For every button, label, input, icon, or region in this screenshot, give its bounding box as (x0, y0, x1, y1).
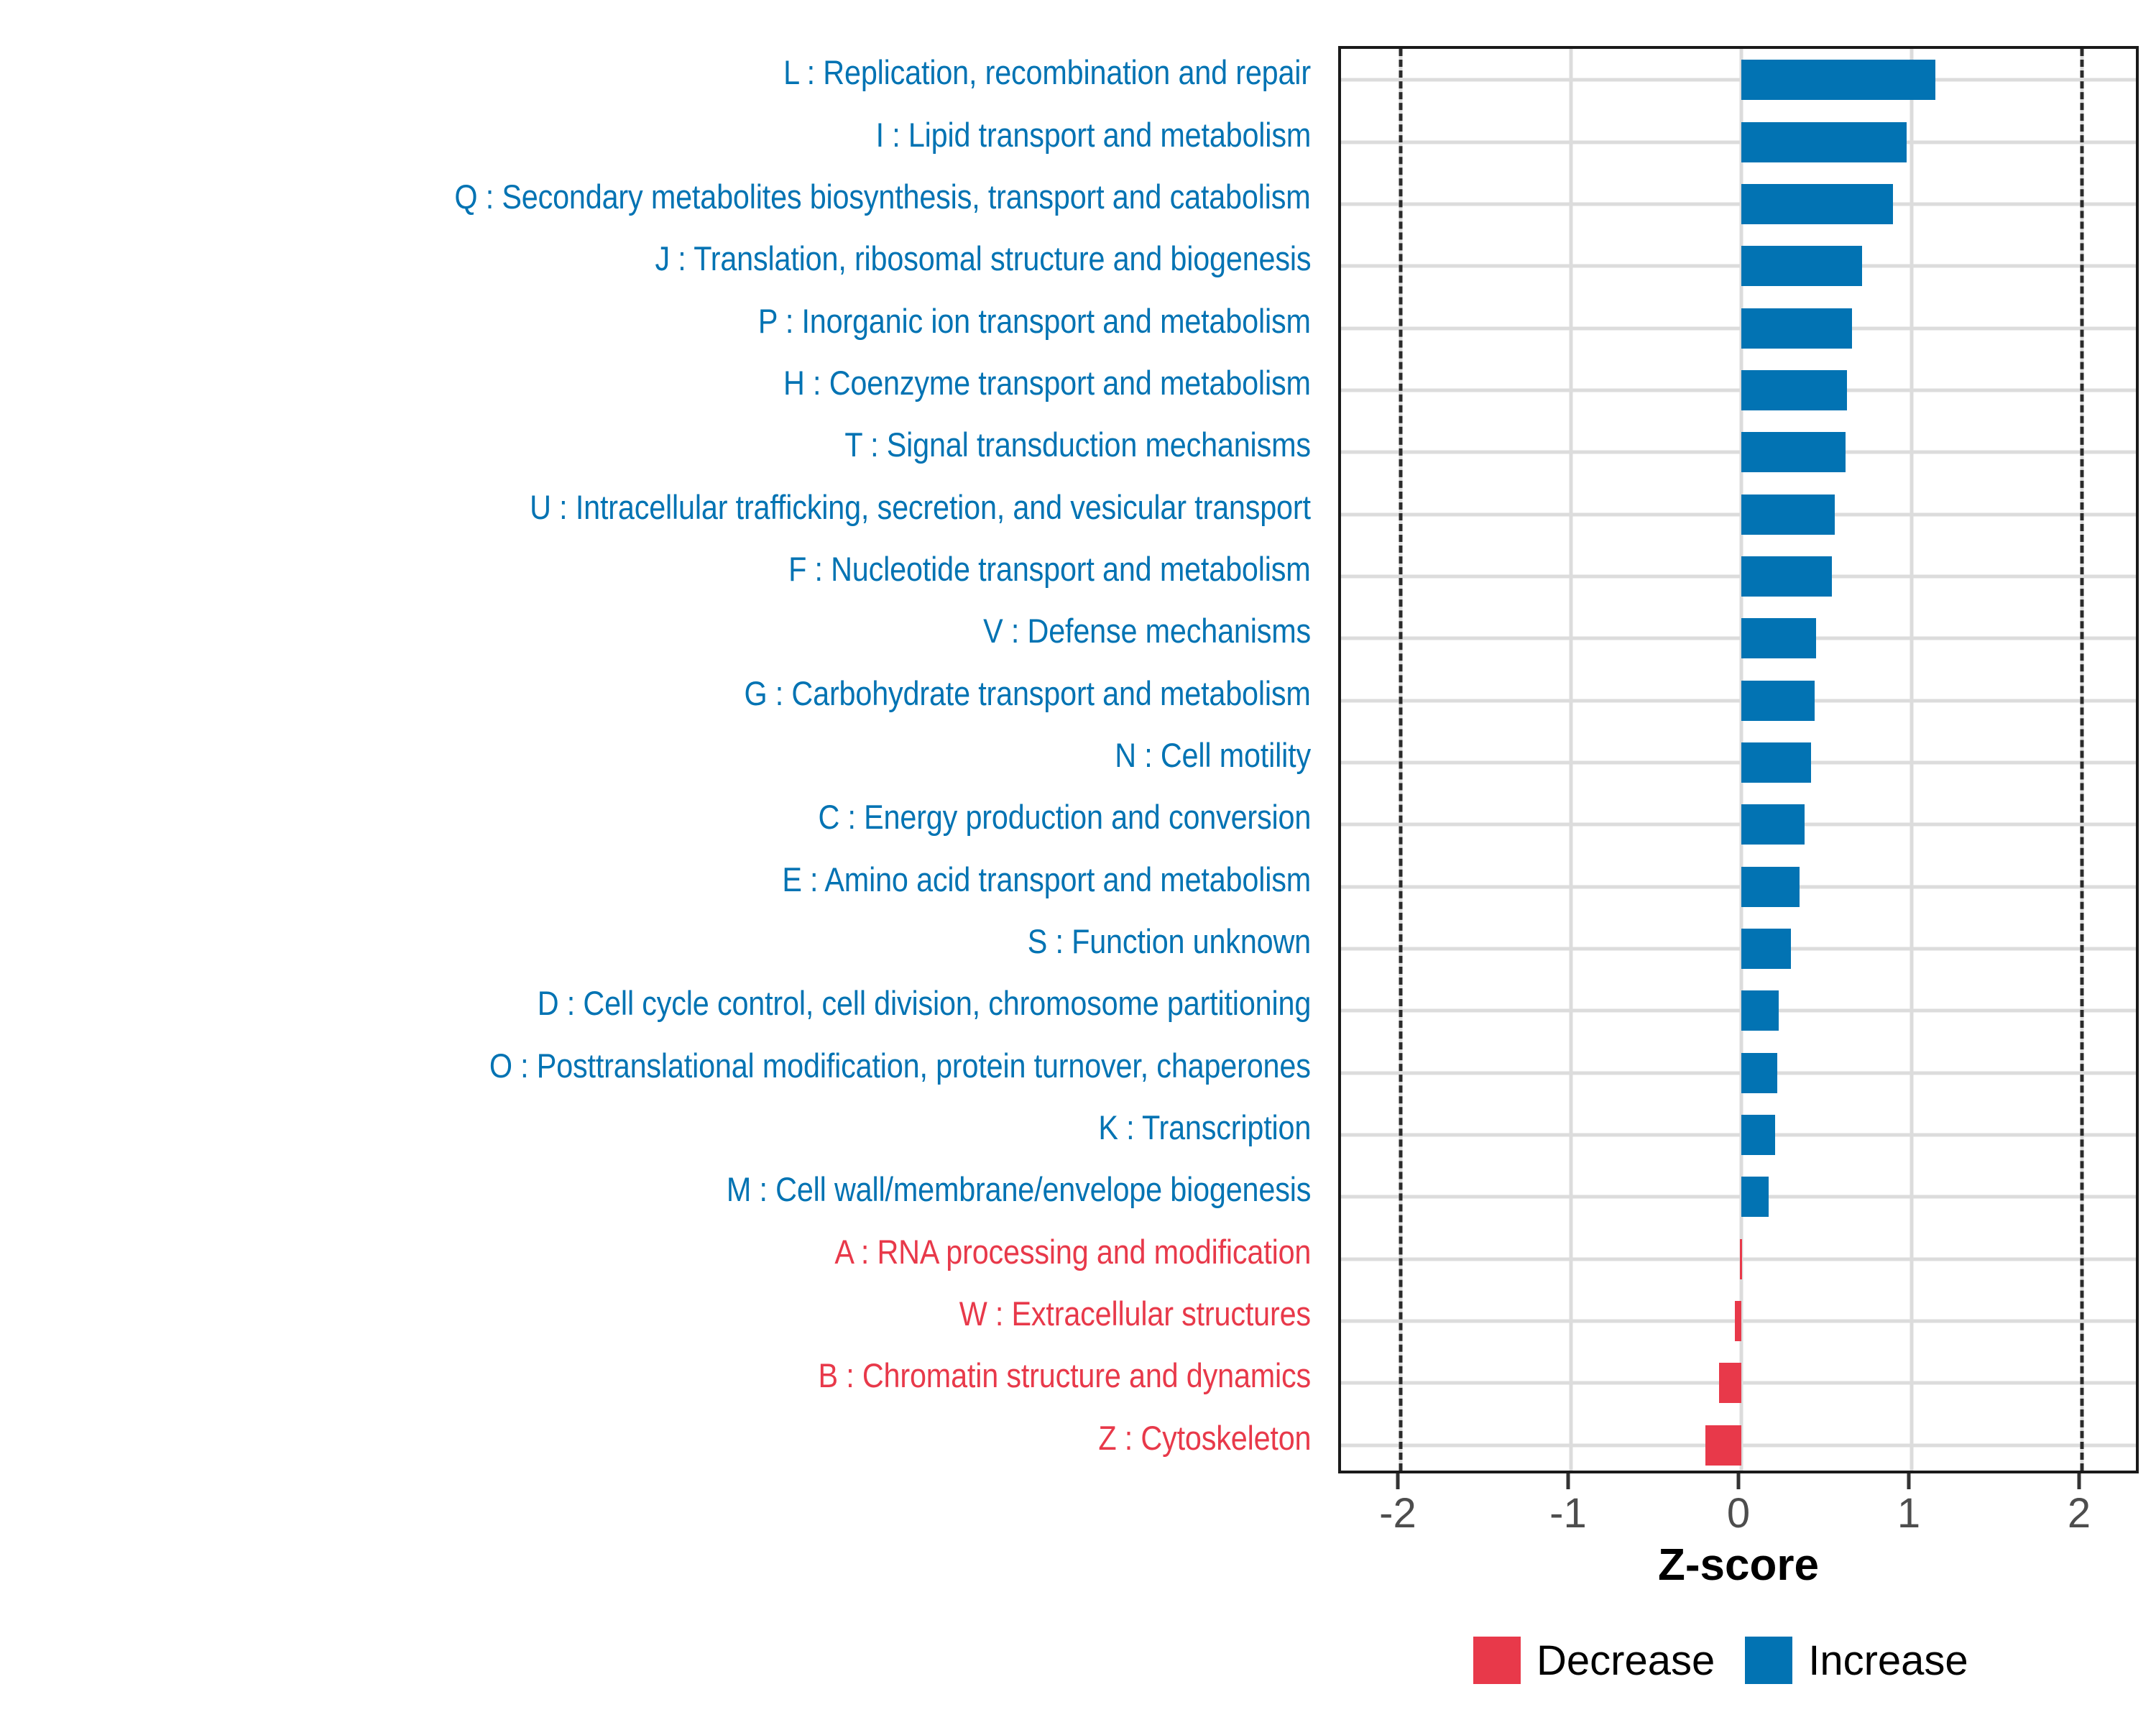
y-axis-label: S : Function unknown (1028, 924, 1311, 958)
y-axis-label: U : Intracellular trafficking, secretion… (530, 490, 1311, 524)
gridline-horizontal (1341, 451, 2136, 454)
y-axis-label: T : Signal transduction mechanisms (845, 428, 1311, 461)
bar-p (1741, 308, 1852, 349)
y-axis-label: J : Translation, ribosomal structure and… (655, 241, 1311, 275)
y-axis-label: Z : Cytoskeleton (1098, 1421, 1311, 1455)
gridline-horizontal (1341, 388, 2136, 392)
y-axis-label: I : Lipid transport and metabolism (875, 118, 1311, 152)
legend-swatch-increase (1745, 1637, 1792, 1684)
tickmark (1907, 1473, 1911, 1489)
y-axis-label: G : Carbohydrate transport and metabolis… (745, 676, 1311, 710)
tick-label: 0 (1727, 1489, 1750, 1537)
chart-figure: L : Replication, recombination and repai… (0, 0, 2156, 1725)
gridline-horizontal (1341, 326, 2136, 330)
gridline-horizontal (1341, 78, 2136, 82)
chart-legend: DecreaseIncrease (1473, 1621, 1968, 1700)
tickmark (1737, 1473, 1741, 1489)
legend-item-decrease[interactable]: Decrease (1473, 1637, 1715, 1685)
gridline-horizontal (1341, 699, 2136, 702)
bar-t (1741, 432, 1846, 472)
bar-k (1741, 1115, 1775, 1155)
gridline-horizontal (1341, 264, 2136, 268)
y-axis-label: B : Chromatin structure and dynamics (818, 1358, 1311, 1392)
bar-q (1741, 184, 1893, 224)
y-axis-label: L : Replication, recombination and repai… (783, 55, 1311, 89)
y-axis-label: K : Transcription (1098, 1110, 1311, 1144)
gridline-horizontal (1341, 823, 2136, 827)
bar-l (1741, 60, 1935, 100)
legend-label: Increase (1808, 1637, 1968, 1685)
tickmark (2078, 1473, 2081, 1489)
gridline-horizontal (1341, 885, 2136, 888)
legend-label: Decrease (1537, 1637, 1715, 1685)
plot-panel (1338, 46, 2139, 1473)
gridline-horizontal (1341, 512, 2136, 516)
tick-label: 1 (1897, 1489, 1920, 1537)
bar-d (1741, 990, 1779, 1031)
bar-f (1741, 556, 1832, 597)
bar-j (1741, 246, 1862, 286)
gridline-horizontal (1341, 1071, 2136, 1075)
bar-m (1741, 1177, 1769, 1217)
gridline-vertical (1910, 49, 1914, 1471)
bar-a (1740, 1239, 1742, 1279)
y-axis-label: D : Cell cycle control, cell division, c… (538, 986, 1311, 1020)
y-axis-label: H : Coenzyme transport and metabolism (783, 366, 1311, 400)
bar-w (1735, 1301, 1741, 1341)
y-axis-label: P : Inorganic ion transport and metaboli… (758, 304, 1311, 338)
bar-n (1741, 742, 1811, 783)
gridline-vertical (1569, 49, 1572, 1471)
x-axis-tick-labels: -2-1012 (1338, 1489, 2139, 1540)
gridline-horizontal (1341, 761, 2136, 765)
tick-label: -2 (1379, 1489, 1416, 1537)
y-axis-label: F : Nucleotide transport and metabolism (789, 552, 1311, 586)
bar-s (1741, 929, 1791, 969)
gridline-horizontal (1341, 1195, 2136, 1199)
reference-line (2081, 49, 2084, 1471)
bar-z (1705, 1425, 1741, 1466)
y-axis-label: E : Amino acid transport and metabolism (782, 862, 1311, 896)
gridline-horizontal (1341, 574, 2136, 578)
bar-u (1741, 494, 1835, 535)
gridline-horizontal (1341, 1009, 2136, 1013)
gridline-horizontal (1341, 637, 2136, 640)
y-axis-label: O : Posttranslational modification, prot… (489, 1049, 1311, 1082)
bar-v (1741, 618, 1816, 658)
bar-o (1741, 1053, 1777, 1093)
legend-swatch-decrease (1473, 1637, 1521, 1684)
tickmark (1566, 1473, 1570, 1489)
tick-label: 2 (2068, 1489, 2091, 1537)
gridline-horizontal (1341, 947, 2136, 951)
gridline-horizontal (1341, 1133, 2136, 1137)
y-axis-category-labels: L : Replication, recombination and repai… (0, 43, 1322, 1473)
gridline-horizontal (1341, 202, 2136, 206)
bar-b (1719, 1363, 1741, 1403)
bar-e (1741, 867, 1800, 907)
gridline-horizontal (1341, 1257, 2136, 1261)
x-axis-title: Z-score (1338, 1540, 2139, 1591)
tickmark (1396, 1473, 1399, 1489)
gridline-horizontal (1341, 140, 2136, 144)
y-axis-label: N : Cell motility (1115, 738, 1311, 772)
bar-i (1741, 122, 1907, 162)
y-axis-label: W : Extracellular structures (959, 1297, 1311, 1330)
y-axis-label: A : RNA processing and modification (834, 1235, 1311, 1269)
tick-label: -1 (1549, 1489, 1587, 1537)
y-axis-label: M : Cell wall/membrane/envelope biogenes… (727, 1172, 1311, 1206)
bar-c (1741, 804, 1805, 845)
bar-h (1741, 370, 1847, 410)
y-axis-label: C : Energy production and conversion (818, 800, 1311, 834)
reference-line (1399, 49, 1402, 1471)
y-axis-label: Q : Secondary metabolites biosynthesis, … (455, 180, 1311, 213)
bar-g (1741, 681, 1815, 721)
y-axis-label: V : Defense mechanisms (983, 614, 1311, 648)
legend-item-increase[interactable]: Increase (1745, 1637, 1968, 1685)
